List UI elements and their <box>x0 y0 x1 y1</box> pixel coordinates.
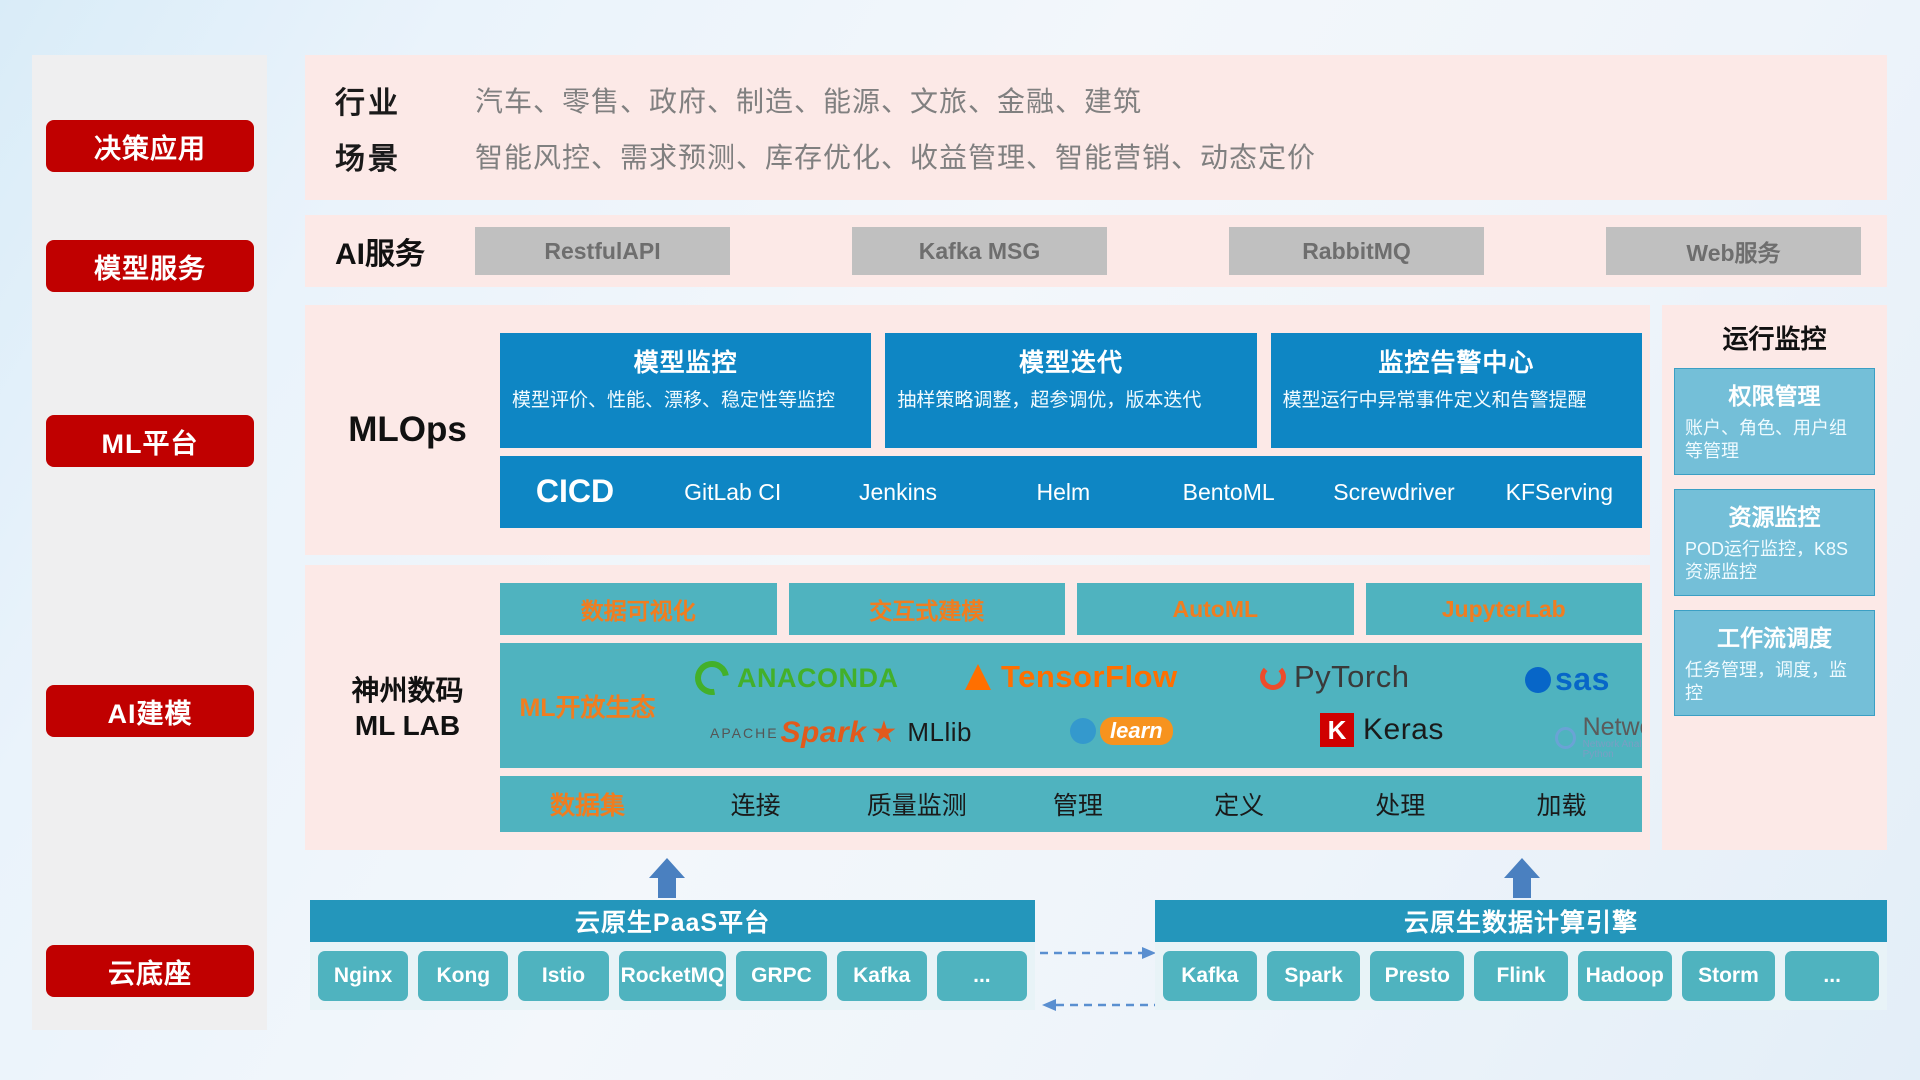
dataset-item-connect[interactable]: 连接 <box>675 786 836 822</box>
monitor-card-desc: POD运行监控，K8S资源监控 <box>1685 538 1864 585</box>
mlops-label: MLOps <box>315 410 500 450</box>
dataset-item-load[interactable]: 加载 <box>1481 786 1642 822</box>
ml-ecosystem-label: ML开放生态 <box>500 688 675 724</box>
paas-chip-rocketmq[interactable]: RocketMQ <box>619 951 727 1001</box>
stage-chip-ml-platform[interactable]: ML平台 <box>46 415 254 467</box>
engine-chip-storm[interactable]: Storm <box>1682 951 1776 1001</box>
scenario-label: 场景 <box>335 134 475 178</box>
keras-label: Keras <box>1363 713 1444 747</box>
scenario-values: 智能风控、需求预测、库存优化、收益管理、智能营销、动态定价 <box>475 136 1316 176</box>
mlops-card-desc: 模型运行中异常事件定义和告警提醒 <box>1283 388 1630 414</box>
pytorch-logo: PyTorch <box>1260 659 1409 695</box>
paas-chip-more[interactable]: ... <box>937 951 1027 1001</box>
cicd-bar: CICD GitLab CI Jenkins Helm BentoML Scre… <box>500 456 1642 528</box>
stage-chip-label: 模型服务 <box>94 247 206 286</box>
keras-logo: K Keras <box>1320 713 1444 747</box>
lab-tab-data-visualization[interactable]: 数据可视化 <box>500 583 777 635</box>
mlops-card-alert-center[interactable]: 监控告警中心 模型运行中异常事件定义和告警提醒 <box>1271 333 1642 448</box>
dataset-item-define[interactable]: 定义 <box>1159 786 1320 822</box>
paas-chip-kong[interactable]: Kong <box>418 951 508 1001</box>
networkx-subtitle: Network Analysis in Python <box>1583 740 1642 760</box>
cloud-engine-group: 云原生数据计算引擎 Kafka Spark Presto Flink Hadoo… <box>1155 900 1887 1010</box>
paas-chip-kafka[interactable]: Kafka <box>837 951 927 1001</box>
engine-chip-flink[interactable]: Flink <box>1474 951 1568 1001</box>
dataset-item-process[interactable]: 处理 <box>1320 786 1481 822</box>
up-arrow-icon-left <box>645 856 689 900</box>
industry-label: 行业 <box>335 78 475 122</box>
stage-chip-cloud-base[interactable]: 云底座 <box>46 945 254 997</box>
pytorch-label: PyTorch <box>1294 659 1409 695</box>
stage-chip-label: 决策应用 <box>94 127 206 166</box>
dashed-arrow-icon-right <box>1040 946 1158 960</box>
up-arrow-icon-right <box>1500 856 1544 900</box>
engine-chip-presto[interactable]: Presto <box>1370 951 1464 1001</box>
dataset-label: 数据集 <box>500 786 675 822</box>
cloud-paas-group: 云原生PaaS平台 Nginx Kong Istio RocketMQ GRPC… <box>310 900 1035 1010</box>
ml-lab-label-line1: 神州数码 <box>315 673 500 708</box>
apache-label: APACHE <box>710 725 779 741</box>
scenario-row: 场景 智能风控、需求预测、库存优化、收益管理、智能营销、动态定价 <box>335 134 1887 178</box>
cloud-paas-title: 云原生PaaS平台 <box>310 900 1035 942</box>
service-chip-web-service[interactable]: Web服务 <box>1606 227 1861 275</box>
mlops-card-desc: 模型评价、性能、漂移、稳定性等监控 <box>512 388 859 414</box>
service-chip-kafka-msg[interactable]: Kafka MSG <box>852 227 1107 275</box>
networkx-logo: NetworkX Network Analysis in Python <box>1555 715 1642 760</box>
industry-values: 汽车、零售、政府、制造、能源、文旅、金融、建筑 <box>475 80 1142 120</box>
mlops-card-title: 模型迭代 <box>897 343 1244 379</box>
scikit-icon <box>1070 718 1096 744</box>
paas-chip-istio[interactable]: Istio <box>518 951 608 1001</box>
anaconda-label: ANACONDA <box>737 663 899 694</box>
mlops-card-title: 模型监控 <box>512 343 859 379</box>
tensorflow-label: TensorFlow <box>1001 659 1178 695</box>
ml-lab-label: 神州数码 ML LAB <box>315 673 500 743</box>
sas-icon <box>1525 667 1551 693</box>
stage-chip-ai-modeling[interactable]: AI建模 <box>46 685 254 737</box>
service-chip-restfulapi[interactable]: RestfulAPI <box>475 227 730 275</box>
cicd-item-gitlab-ci[interactable]: GitLab CI <box>650 479 815 504</box>
stage-rail: 决策应用 模型服务 ML平台 AI建模 云底座 <box>32 55 267 1030</box>
networkx-icon <box>1555 727 1576 749</box>
mllib-label: MLlib <box>907 717 972 748</box>
monitor-card-desc: 账户、角色、用户组等管理 <box>1685 417 1864 464</box>
cicd-item-bentoml[interactable]: BentoML <box>1146 479 1311 504</box>
runtime-monitor-panel: 运行监控 权限管理 账户、角色、用户组等管理 资源监控 POD运行监控，K8S资… <box>1662 305 1887 850</box>
monitor-card-resource[interactable]: 资源监控 POD运行监控，K8S资源监控 <box>1674 489 1875 596</box>
cicd-item-helm[interactable]: Helm <box>981 479 1146 504</box>
monitor-card-permission[interactable]: 权限管理 账户、角色、用户组等管理 <box>1674 368 1875 475</box>
ml-lab-band: 神州数码 ML LAB 数据可视化 交互式建模 AutoML JupyterLa… <box>305 565 1650 850</box>
cicd-title: CICD <box>500 473 650 510</box>
service-chip-rabbitmq[interactable]: RabbitMQ <box>1229 227 1484 275</box>
ai-services-band: AI服务 RestfulAPI Kafka MSG RabbitMQ Web服务 <box>305 215 1887 287</box>
mlops-card-title: 监控告警中心 <box>1283 343 1630 379</box>
anaconda-logo: ANACONDA <box>695 661 899 695</box>
ml-lab-label-line2: ML LAB <box>315 708 500 743</box>
spark-star-icon: ★ <box>870 715 897 750</box>
mlops-card-model-monitoring[interactable]: 模型监控 模型评价、性能、漂移、稳定性等监控 <box>500 333 871 448</box>
dataset-item-manage[interactable]: 管理 <box>997 786 1158 822</box>
stage-chip-label: AI建模 <box>108 692 193 731</box>
mlops-card-model-iteration[interactable]: 模型迭代 抽样策略调整，超参调优，版本迭代 <box>885 333 1256 448</box>
service-chip-label: Kafka MSG <box>919 238 1040 265</box>
service-chip-label: RestfulAPI <box>544 238 660 265</box>
anaconda-icon <box>688 654 735 701</box>
lab-tab-interactive-modeling[interactable]: 交互式建模 <box>789 583 1066 635</box>
mlops-card-desc: 抽样策略调整，超参调优，版本迭代 <box>897 388 1244 414</box>
paas-chip-grpc[interactable]: GRPC <box>736 951 826 1001</box>
spark-logo: APACHE Spark ★ MLlib <box>710 715 972 750</box>
service-chip-label: RabbitMQ <box>1302 238 1411 265</box>
ai-services-label: AI服务 <box>335 229 475 273</box>
stage-chip-decision-apps[interactable]: 决策应用 <box>46 120 254 172</box>
engine-chip-kafka[interactable]: Kafka <box>1163 951 1257 1001</box>
cicd-item-jenkins[interactable]: Jenkins <box>815 479 980 504</box>
dataset-row: 数据集 连接 质量监测 管理 定义 处理 加载 <box>500 776 1642 832</box>
engine-chip-hadoop[interactable]: Hadoop <box>1578 951 1672 1001</box>
scikit-learn-label: learn <box>1100 717 1173 745</box>
monitor-card-desc: 任务管理，调度，监控 <box>1685 659 1864 706</box>
cicd-item-kfserving[interactable]: KFServing <box>1477 479 1642 504</box>
dataset-item-quality-monitoring[interactable]: 质量监测 <box>836 786 997 822</box>
tensorflow-logo: TensorFlow <box>965 659 1178 695</box>
sas-label: sas <box>1555 661 1610 698</box>
lab-tab-jupyterlab[interactable]: JupyterLab <box>1366 583 1643 635</box>
engine-chip-spark[interactable]: Spark <box>1267 951 1361 1001</box>
keras-icon: K <box>1320 713 1354 747</box>
cloud-engine-title: 云原生数据计算引擎 <box>1155 900 1887 942</box>
runtime-monitor-title: 运行监控 <box>1674 319 1875 356</box>
lab-tab-automl[interactable]: AutoML <box>1077 583 1354 635</box>
monitor-card-title: 工作流调度 <box>1685 619 1864 653</box>
industry-row: 行业 汽车、零售、政府、制造、能源、文旅、金融、建筑 <box>335 78 1887 122</box>
decision-apps-band: 行业 汽车、零售、政府、制造、能源、文旅、金融、建筑 场景 智能风控、需求预测、… <box>305 55 1887 200</box>
scikit-learn-logo: learn <box>1070 717 1173 745</box>
tensorflow-icon <box>965 664 991 690</box>
spark-label: Spark <box>781 716 867 750</box>
networkx-label: NetworkX <box>1583 715 1642 740</box>
monitor-card-title: 资源监控 <box>1685 498 1864 532</box>
paas-chip-nginx[interactable]: Nginx <box>318 951 408 1001</box>
architecture-diagram: 决策应用 模型服务 ML平台 AI建模 云底座 行业 汽车、零售、政府、制造、能… <box>0 0 1920 1080</box>
monitor-card-title: 权限管理 <box>1685 377 1864 411</box>
engine-chip-more[interactable]: ... <box>1785 951 1879 1001</box>
pytorch-icon <box>1260 664 1286 690</box>
monitor-card-workflow[interactable]: 工作流调度 任务管理，调度，监控 <box>1674 610 1875 717</box>
stage-chip-model-service[interactable]: 模型服务 <box>46 240 254 292</box>
sas-logo: sas <box>1525 661 1610 698</box>
mlops-band: MLOps 模型监控 模型评价、性能、漂移、稳定性等监控 模型迭代 抽样策略调整… <box>305 305 1650 555</box>
ml-ecosystem-row: ML开放生态 ANACONDA TensorFlow <box>500 643 1642 768</box>
stage-chip-label: ML平台 <box>102 422 199 461</box>
dashed-arrow-icon-left <box>1040 998 1158 1012</box>
stage-chip-label: 云底座 <box>108 952 192 991</box>
cicd-item-screwdriver[interactable]: Screwdriver <box>1311 479 1476 504</box>
service-chip-label: Web服务 <box>1686 234 1780 268</box>
